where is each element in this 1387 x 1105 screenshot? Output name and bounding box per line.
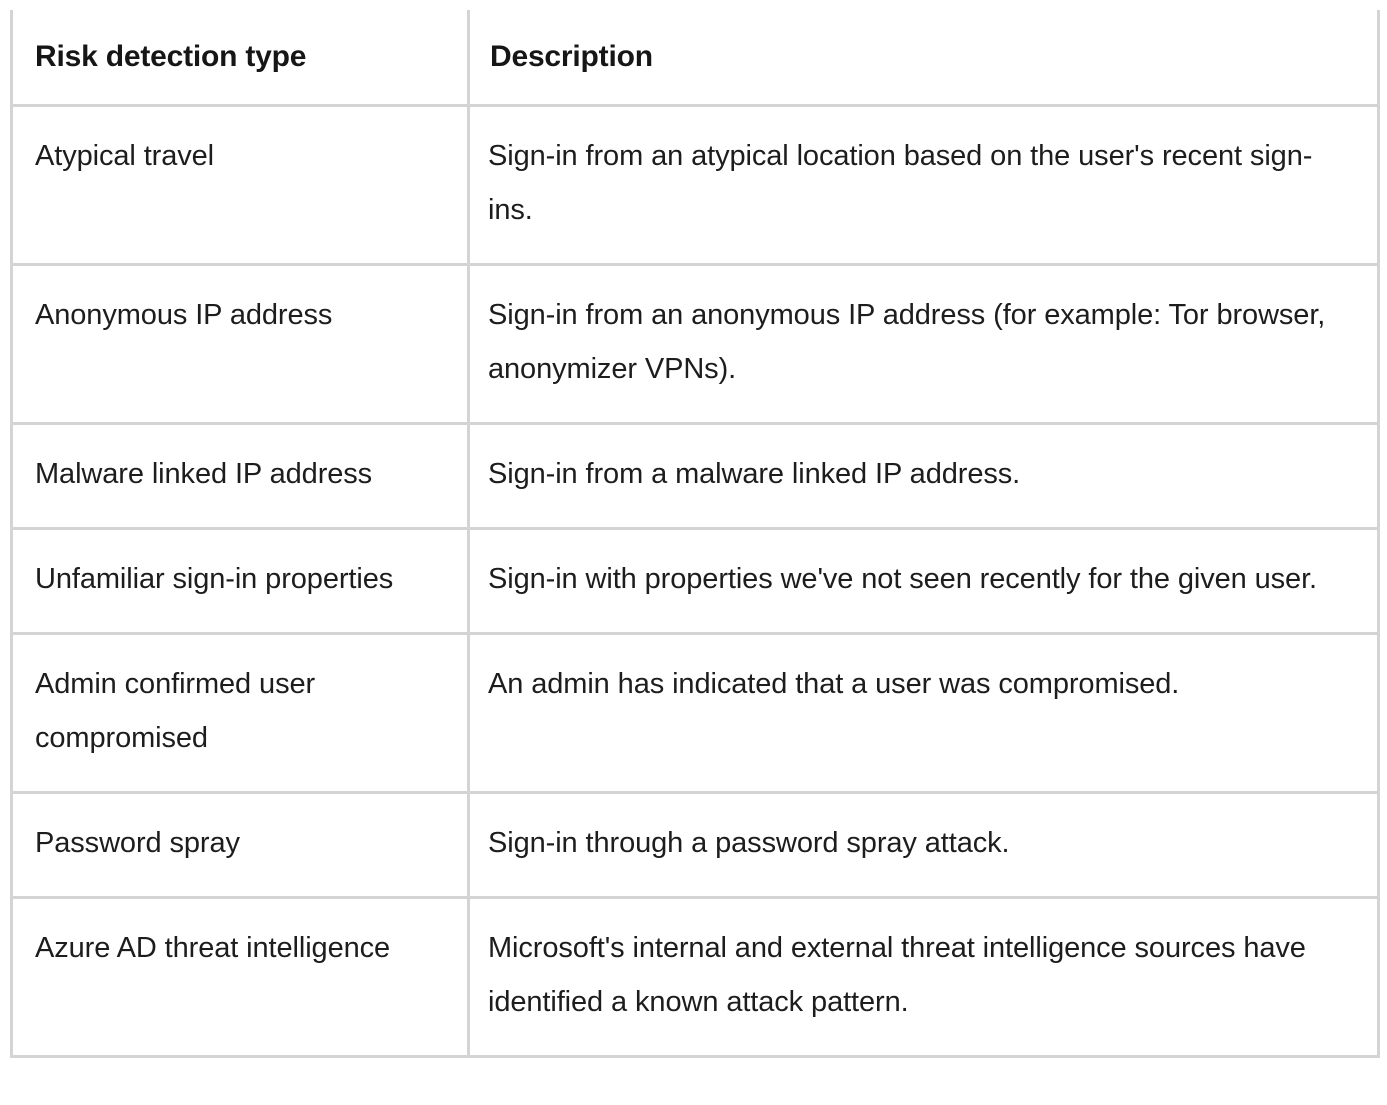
risk-detection-table: Risk detection type Description Atypical… [10, 10, 1380, 1058]
risk-detection-table-container: Risk detection type Description Atypical… [10, 10, 1377, 1096]
cell-risk-detection-type: Atypical travel [12, 105, 469, 264]
table-header: Risk detection type Description [12, 10, 1379, 105]
column-header-description: Description [469, 10, 1379, 105]
table-row: Anonymous IP address Sign-in from an ano… [12, 264, 1379, 423]
table-header-row: Risk detection type Description [12, 10, 1379, 105]
cell-risk-detection-type: Azure AD threat intelligence [12, 897, 469, 1056]
table-body: Atypical travel Sign-in from an atypical… [12, 105, 1379, 1056]
cell-description: Sign-in from an atypical location based … [469, 105, 1379, 264]
page-root: Risk detection type Description Atypical… [0, 0, 1387, 1105]
cell-risk-detection-type: Anonymous IP address [12, 264, 469, 423]
cell-description: Sign-in from a malware linked IP address… [469, 423, 1379, 528]
cell-risk-detection-type: Unfamiliar sign-in properties [12, 528, 469, 633]
cell-description: Sign-in with properties we've not seen r… [469, 528, 1379, 633]
cell-description: An admin has indicated that a user was c… [469, 633, 1379, 792]
cell-risk-detection-type: Admin confirmed user compromised [12, 633, 469, 792]
table-row: Admin confirmed user compromised An admi… [12, 633, 1379, 792]
cell-description: Microsoft's internal and external threat… [469, 897, 1379, 1056]
table-row: Unfamiliar sign-in properties Sign-in wi… [12, 528, 1379, 633]
cell-description: Sign-in from an anonymous IP address (fo… [469, 264, 1379, 423]
table-row: Password spray Sign-in through a passwor… [12, 792, 1379, 897]
table-row: Azure AD threat intelligence Microsoft's… [12, 897, 1379, 1056]
column-header-risk-detection-type: Risk detection type [12, 10, 469, 105]
cell-description: Sign-in through a password spray attack. [469, 792, 1379, 897]
table-row: Malware linked IP address Sign-in from a… [12, 423, 1379, 528]
cell-risk-detection-type: Malware linked IP address [12, 423, 469, 528]
table-row: Atypical travel Sign-in from an atypical… [12, 105, 1379, 264]
cell-risk-detection-type: Password spray [12, 792, 469, 897]
